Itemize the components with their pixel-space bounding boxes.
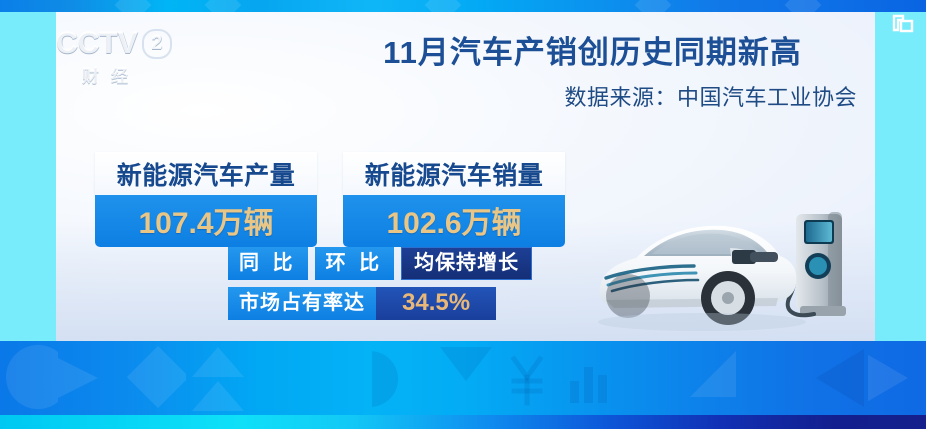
white-electric-car — [600, 226, 797, 325]
rear-wheel — [606, 274, 650, 318]
yuan-symbol-tile — [496, 341, 558, 415]
badge-growth-statement: 均保持增长 — [401, 247, 532, 280]
top-decorative-strip — [0, 0, 926, 12]
left-cyan-rail — [0, 12, 56, 341]
logo-cctv-text: CCTV — [56, 27, 138, 60]
stat-card-value: 102.6万辆 — [343, 195, 565, 247]
stat-card-group: 新能源汽车产量 107.4万辆 新能源汽车销量 102.6万辆 — [95, 152, 565, 247]
data-source-line: 数据来源：中国汽车工业协会 — [320, 80, 865, 112]
cctv-channel-logo: CCTV2 财经 — [56, 28, 186, 88]
bottom-pattern-band — [0, 341, 926, 429]
badge-group: 同 比 环 比 均保持增长 市场占有率达 34.5% — [228, 247, 532, 327]
band-base-strip — [0, 415, 926, 429]
picture-in-picture-icon[interactable] — [892, 14, 916, 36]
stat-card-sales: 新能源汽车销量 102.6万辆 — [343, 152, 565, 247]
stat-card-production: 新能源汽车产量 107.4万辆 — [95, 152, 317, 247]
logo-channel-number: 2 — [142, 29, 172, 59]
badge-market-share-value: 34.5% — [376, 287, 496, 320]
stat-card-label: 新能源汽车产量 — [95, 152, 317, 195]
stat-card-value: 107.4万辆 — [95, 195, 317, 247]
headline-block: 11月汽车产销创历史同期新高 数据来源：中国汽车工业协会 — [320, 34, 865, 112]
broadcast-screen: CCTV2 财经 11月汽车产销创历史同期新高 数据来源：中国汽车工业协会 新能… — [0, 0, 926, 429]
market-share-row: 市场占有率达 34.5% — [228, 287, 532, 320]
electric-car-charging-illustration — [582, 206, 882, 342]
logo-main-text: CCTV2 — [56, 28, 186, 60]
page-title: 11月汽车产销创历史同期新高 — [320, 34, 865, 72]
logo-sub-text: 财经 — [82, 62, 186, 87]
right-cyan-rail — [875, 12, 926, 341]
growth-badge-row: 同 比 环 比 均保持增长 — [228, 247, 532, 280]
stat-card-label: 新能源汽车销量 — [343, 152, 565, 195]
badge-year-over-year: 同 比 — [228, 247, 308, 280]
badge-market-share-label: 市场占有率达 — [228, 287, 376, 320]
ev-charging-station — [796, 212, 846, 316]
badge-month-over-month: 环 比 — [315, 247, 395, 280]
bar-chart-tile — [558, 341, 620, 415]
